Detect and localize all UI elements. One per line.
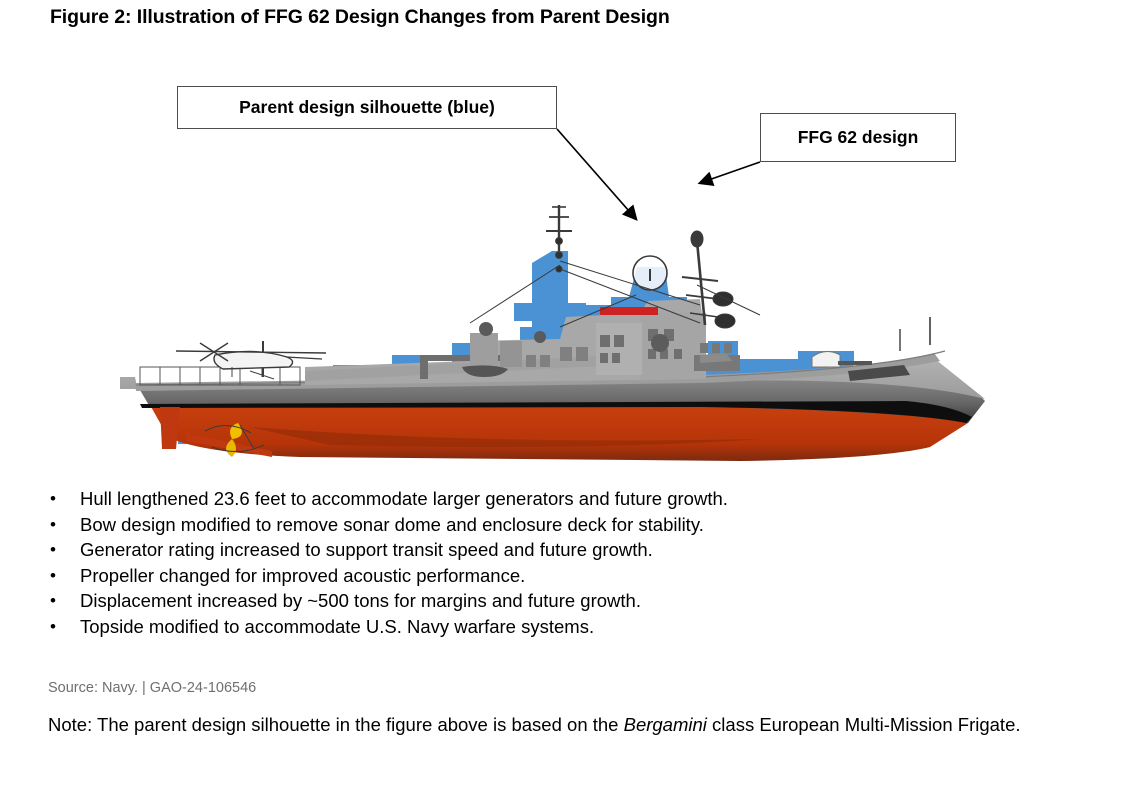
- note-prefix: Note: The parent design silhouette in th…: [48, 714, 624, 735]
- bullet-marker-icon: •: [50, 614, 80, 640]
- list-item-text: Hull lengthened 23.6 feet to accommodate…: [80, 486, 728, 512]
- callout-ffg-62-design-label: FFG 62 design: [798, 127, 919, 148]
- bullet-marker-icon: •: [50, 537, 80, 563]
- figure-page: Figure 2: Illustration of FFG 62 Design …: [0, 0, 1122, 800]
- list-item: • Displacement increased by ~500 tons fo…: [50, 588, 950, 614]
- note-paragraph: Note: The parent design silhouette in th…: [48, 712, 1068, 738]
- list-item: • Topside modified to accommodate U.S. N…: [50, 614, 950, 640]
- list-item: • Bow design modified to remove sonar do…: [50, 512, 950, 538]
- bullet-marker-icon: •: [50, 486, 80, 512]
- page-title: Figure 2: Illustration of FFG 62 Design …: [50, 6, 670, 29]
- leader-ffg-design: [700, 162, 760, 183]
- callout-parent-design-label: Parent design silhouette (blue): [239, 97, 495, 118]
- list-item: • Hull lengthened 23.6 feet to accommoda…: [50, 486, 950, 512]
- list-item-text: Propeller changed for improved acoustic …: [80, 563, 525, 589]
- bullet-marker-icon: •: [50, 512, 80, 538]
- bullet-marker-icon: •: [50, 563, 80, 589]
- design-changes-list: • Hull lengthened 23.6 feet to accommoda…: [50, 486, 950, 639]
- callout-parent-design[interactable]: Parent design silhouette (blue): [177, 86, 557, 129]
- source-line: Source: Navy. | GAO-24-106546: [48, 680, 256, 696]
- note-suffix: class European Multi-Mission Frigate.: [707, 714, 1021, 735]
- note-italic-term: Bergamini: [624, 714, 707, 735]
- callout-ffg-62-design[interactable]: FFG 62 design: [760, 113, 956, 162]
- list-item-text: Generator rating increased to support tr…: [80, 537, 653, 563]
- figure-illustration-area: Parent design silhouette (blue) FFG 62 d…: [0, 55, 1122, 475]
- leader-parent-design: [557, 129, 636, 219]
- list-item-text: Topside modified to accommodate U.S. Nav…: [80, 614, 594, 640]
- list-item-text: Displacement increased by ~500 tons for …: [80, 588, 641, 614]
- list-item-text: Bow design modified to remove sonar dome…: [80, 512, 704, 538]
- bullet-marker-icon: •: [50, 588, 80, 614]
- list-item: • Propeller changed for improved acousti…: [50, 563, 950, 589]
- list-item: • Generator rating increased to support …: [50, 537, 950, 563]
